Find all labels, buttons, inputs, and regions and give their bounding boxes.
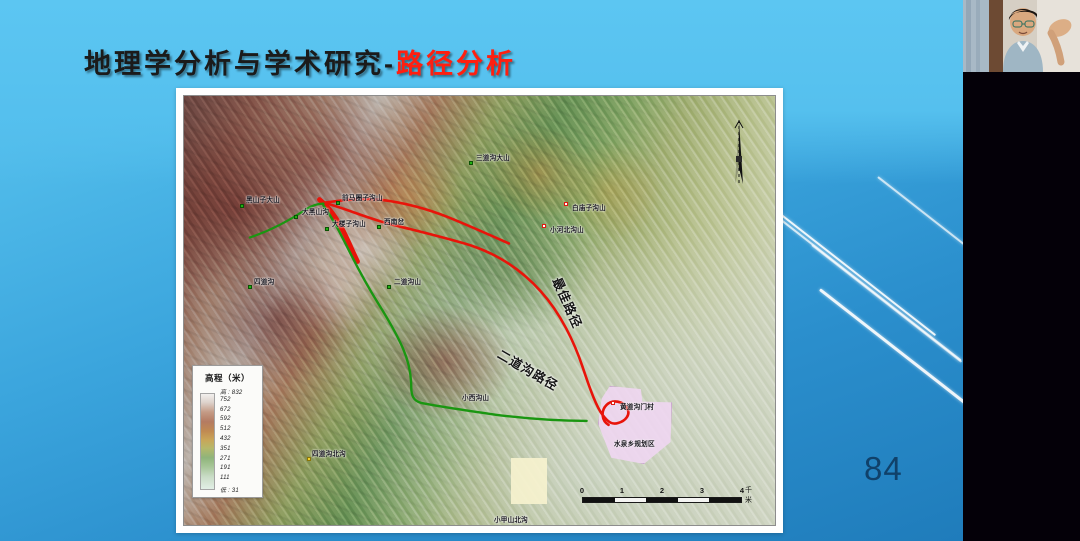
map-place-label: 前马圈子沟山 (342, 192, 383, 202)
map-place-marker (611, 401, 615, 405)
map-place-label: 小河北沟山 (550, 224, 584, 234)
scale-tick: 0 (580, 486, 584, 495)
map-place-label: 黄道沟门村 (620, 401, 654, 411)
legend-value: 191 (220, 465, 231, 471)
map-place-marker (469, 161, 473, 165)
map-place-label: 四道沟北沟 (312, 448, 346, 458)
map-place-marker (325, 227, 329, 231)
map-place-marker (564, 202, 568, 206)
presenter-video-thumbnail[interactable] (963, 0, 1080, 72)
place-labels-overlay: 黑山子大山四道沟大黑山沟大楼子沟山前马圈子沟山西南岔三道沟大山白庙子沟山小河北沟… (184, 96, 775, 525)
legend-value: 低 : 31 (220, 485, 239, 494)
legend-value: 752 (220, 397, 231, 403)
map-place-label: 水泉乡规划区 (614, 438, 655, 448)
map-place-label: 大楼子沟山 (332, 218, 366, 228)
legend-value: 高 : 832 (220, 387, 242, 396)
map-place-marker (240, 204, 244, 208)
scale-tick: 2 (660, 486, 664, 495)
map-place-label: 大黑山沟 (302, 206, 329, 216)
scale-tick: 1 (620, 486, 624, 495)
scale-bar-unit: 千米 (745, 485, 754, 505)
map-place-label: 西南岔 (384, 216, 404, 226)
legend-value: 672 (220, 407, 231, 413)
page-title-main: 地理学分析与学术研究- (84, 49, 396, 79)
decorative-streak (769, 205, 936, 336)
map-place-label: 黑山子大山 (246, 194, 280, 204)
north-arrow-icon (728, 118, 750, 190)
decorative-streak (878, 176, 963, 251)
map-place-marker (387, 285, 391, 289)
legend-value: 432 (220, 436, 231, 442)
map-place-label: 二道沟山 (394, 276, 421, 286)
legend-value: 592 (220, 416, 231, 422)
legend-value: 111 (220, 475, 230, 481)
scale-bar-graphic (582, 497, 742, 503)
scale-tick: 3 (700, 486, 704, 495)
legend-value: 271 (220, 456, 231, 462)
legend-title: 高程（米） (193, 372, 262, 384)
legend-color-ramp (200, 393, 215, 490)
legend-value: 512 (220, 426, 231, 432)
map-place-label: 白庙子沟山 (572, 202, 606, 212)
map-place-marker (248, 285, 252, 289)
map-place-marker (307, 457, 311, 461)
presenter-video-image (963, 0, 1080, 72)
terrain-map[interactable]: 最佳路径 二道沟路径 黑山子大山四道沟大黑山沟大楼子沟山前马圈子沟山西南岔三道沟… (183, 95, 776, 526)
presentation-slide: 地理学分析与学术研究-路径分析 84 (0, 0, 963, 541)
decorative-streak (812, 244, 963, 362)
video-sidebar (963, 0, 1080, 541)
legend-value: 351 (220, 446, 231, 452)
decorative-streak (819, 288, 963, 435)
map-place-marker (294, 215, 298, 219)
page-number: 84 (864, 450, 903, 488)
page-title: 地理学分析与学术研究-路径分析 (84, 42, 516, 81)
map-place-label: 小甲山北沟 (494, 514, 528, 524)
scale-tick: 4 (740, 486, 744, 495)
map-place-marker (377, 225, 381, 229)
page-title-accent: 路径分析 (396, 49, 516, 79)
elevation-legend: 高程（米） 高 : 832752672592512432351271191111… (192, 365, 263, 498)
decorative-streak (780, 218, 962, 361)
map-place-label: 三道沟大山 (476, 152, 510, 162)
scale-bar: 01234 千米 (582, 483, 754, 507)
map-place-marker (336, 201, 340, 205)
map-place-marker (542, 224, 546, 228)
map-place-label: 小西沟山 (462, 392, 489, 402)
map-place-label: 四道沟 (254, 276, 274, 286)
map-figure-frame: 最佳路径 二道沟路径 黑山子大山四道沟大黑山沟大楼子沟山前马圈子沟山西南岔三道沟… (176, 88, 783, 533)
